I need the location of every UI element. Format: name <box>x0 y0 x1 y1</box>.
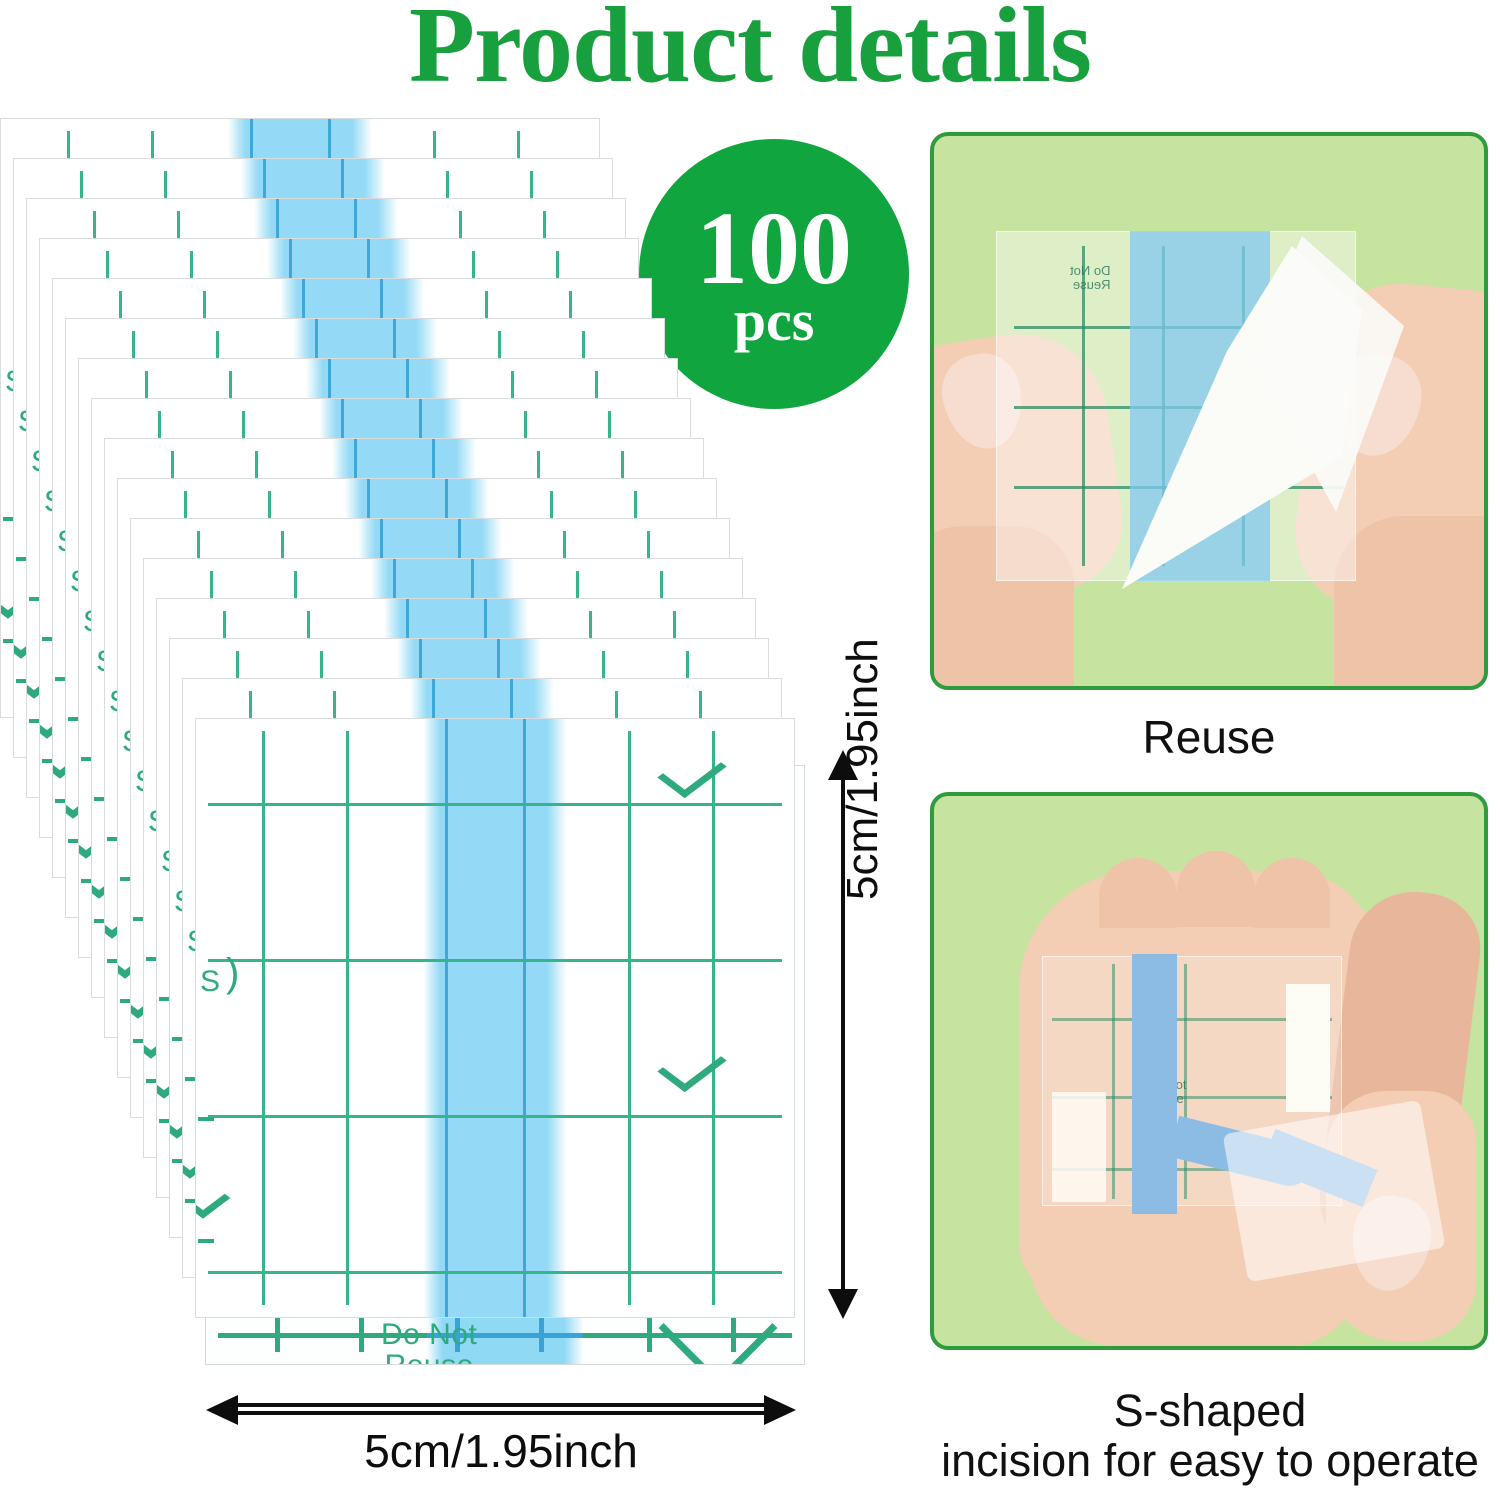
page-title: Product details <box>0 0 1500 100</box>
badge-count: 100 <box>696 201 852 297</box>
product-sheet: S) <box>195 718 795 1318</box>
film-marking-text: Do Not Reuse <box>1070 264 1110 291</box>
chevron-down-icon <box>657 746 726 798</box>
width-dimension-label: 5cm/1.95inch <box>208 1424 794 1478</box>
photo-panel-reuse: Do Not Reuse <box>930 132 1488 690</box>
s-incision-mark: S <box>200 965 220 999</box>
caption-incision: S-shaped incision for easy to operate <box>860 1386 1500 1485</box>
chevron-down-icon <box>657 1040 726 1092</box>
quantity-badge: 100 pcs <box>639 139 909 409</box>
do-not-reuse-label: Do Not Reuse <box>381 1319 477 1365</box>
badge-unit: pcs <box>734 293 815 349</box>
height-dimension-label: 5cm/1.95inch <box>838 638 888 900</box>
product-details-page: Product details S)S)S)S)S)S)S)S)S)S)S)S)… <box>0 0 1500 1488</box>
photo-panel-incision: Do Not Reuse <box>930 792 1488 1350</box>
caption-reuse: Reuse <box>930 712 1488 763</box>
